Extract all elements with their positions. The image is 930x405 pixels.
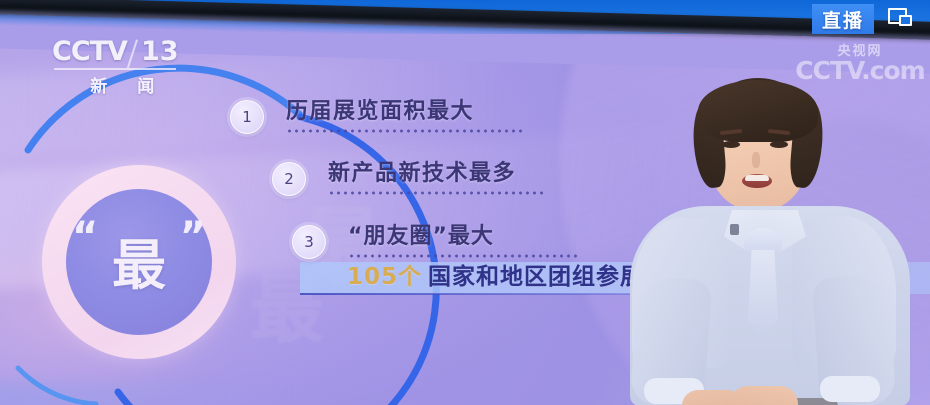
list-item: 2 新产品新技术最多 [272, 162, 546, 196]
point-text-block: “朋友圈”最大 [348, 225, 580, 258]
point-dotted-rule [348, 254, 580, 258]
live-badge: 直播 [812, 4, 874, 34]
anchor-teeth [745, 175, 769, 181]
news-anchor [620, 78, 920, 405]
point-dotted-rule [286, 129, 522, 133]
point-text-block: 新产品新技术最多 [328, 162, 546, 195]
anchor-eye-right [770, 141, 788, 148]
channel-logo-divider [127, 39, 138, 68]
picture-in-picture-icon[interactable] [888, 8, 914, 29]
point-title: “朋友圈”最大 [348, 225, 580, 249]
highlight-number: 105个 [347, 264, 422, 290]
broadcast-screen: 最 最 最 “ ” 1 历届展览面积最大 2 新产品新技术最多 3 [0, 0, 930, 405]
anchor-eye-left [722, 141, 740, 148]
point-title: 历届展览面积最大 [286, 100, 522, 124]
watermark-english: CCTV.com [795, 56, 925, 85]
point-number-badge: 3 [292, 225, 326, 259]
anchor-cuff-right [820, 376, 880, 402]
channel-number: 13 [141, 36, 179, 67]
point-dotted-rule [328, 191, 546, 195]
point-number-badge: 2 [272, 162, 306, 196]
anchor-hair-top [698, 80, 818, 142]
channel-logo-rule [54, 68, 176, 70]
highlight-subline: 105个国家和地区团组参展 [347, 261, 644, 294]
anchor-hand-right [730, 386, 798, 405]
highlight-text: 国家和地区团组参展 [428, 264, 644, 290]
channel-logo-row: CCTV 13 [52, 36, 179, 67]
channel-logo-text: CCTV [52, 36, 127, 67]
point-number-badge: 1 [230, 100, 264, 134]
anchor-nose [752, 152, 760, 168]
channel-logo: CCTV 13 新 闻 [52, 36, 179, 97]
list-item: 1 历届展览面积最大 [230, 100, 522, 134]
network-watermark: 央视网 CCTV.com [795, 40, 925, 85]
list-item: 3 “朋友圈”最大 [292, 225, 580, 259]
point-text-block: 历届展览面积最大 [286, 100, 522, 133]
pip-inner-frame [899, 15, 912, 26]
anchor-lapel-microphone [730, 224, 739, 235]
point-title: 新产品新技术最多 [328, 162, 546, 186]
channel-subtitle: 新 闻 [52, 72, 179, 97]
